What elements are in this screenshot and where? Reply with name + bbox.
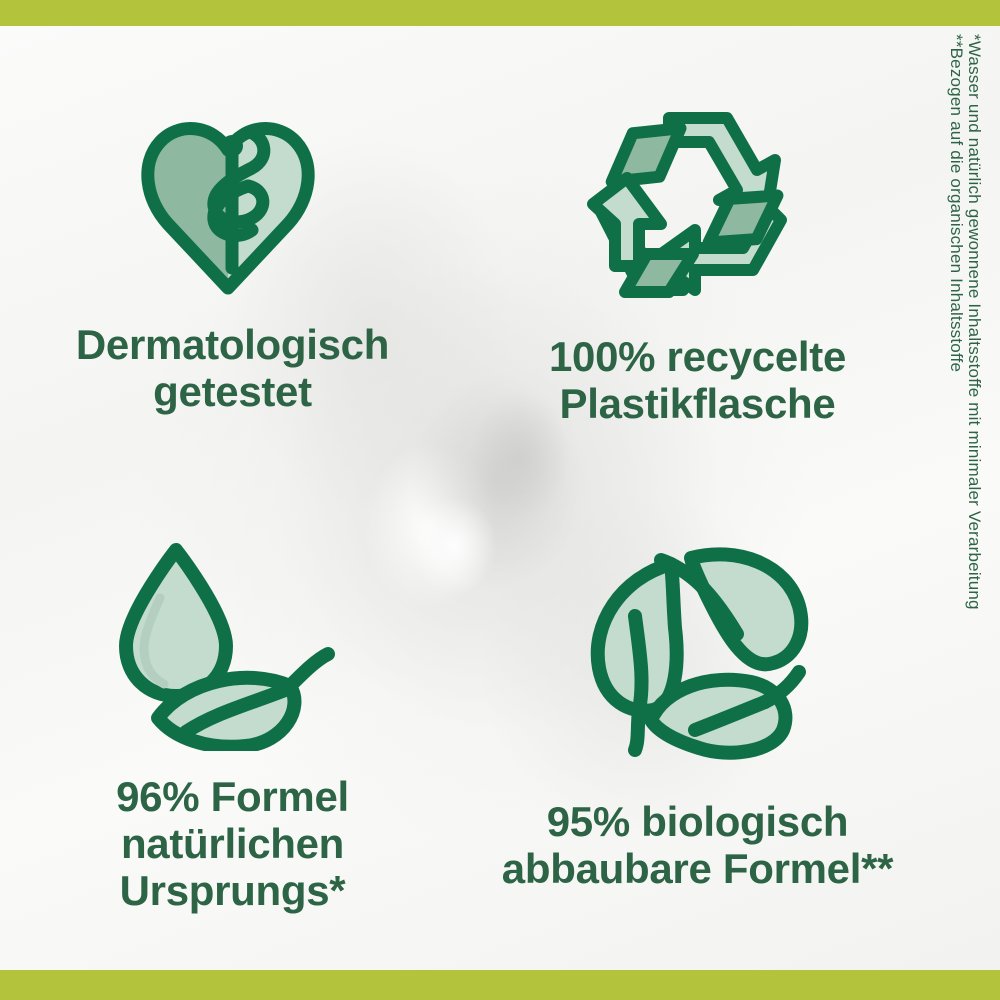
feature-dermatologisch-getestet: Dermatologisch getestet: [0, 26, 465, 498]
feature-biologisch-abbaubare-formel: 95% biologisch abbaubare Formel**: [465, 498, 930, 970]
heart-caduceus-icon: [128, 102, 338, 307]
feature-formel-natuerlichen-ursprungs: 96% Formel natürlichen Ursprungs*: [0, 498, 465, 970]
feature-caption: 96% Formel natürlichen Ursprungs*: [116, 773, 349, 914]
feature-caption: 95% biologisch abbaubare Formel**: [502, 798, 893, 892]
product-claims-infographic: Dermatologisch getestet: [0, 0, 1000, 1000]
feature-recycelte-plastikflasche: 100% recycelte Plastikflasche: [465, 26, 930, 498]
feature-caption: Dermatologisch getestet: [76, 321, 389, 415]
footnote-legend: *Wasser und natürlich gewonnene Inhaltss…: [936, 26, 996, 970]
water-drop-leaf-icon: [108, 536, 358, 751]
bottom-accent-bar: [0, 970, 1000, 1000]
footnote-double-asterisk: **Bezogen auf die organischen Inhaltssto…: [946, 34, 966, 372]
top-accent-bar: [0, 0, 1000, 26]
feature-grid: Dermatologisch getestet: [0, 26, 930, 970]
feature-caption: 100% recycelte Plastikflasche: [549, 333, 846, 427]
three-leaves-circle-icon: [573, 532, 823, 772]
footnote-single-asterisk: *Wasser und natürlich gewonnene Inhaltss…: [964, 34, 984, 610]
recycling-arrows-icon: [585, 94, 810, 319]
